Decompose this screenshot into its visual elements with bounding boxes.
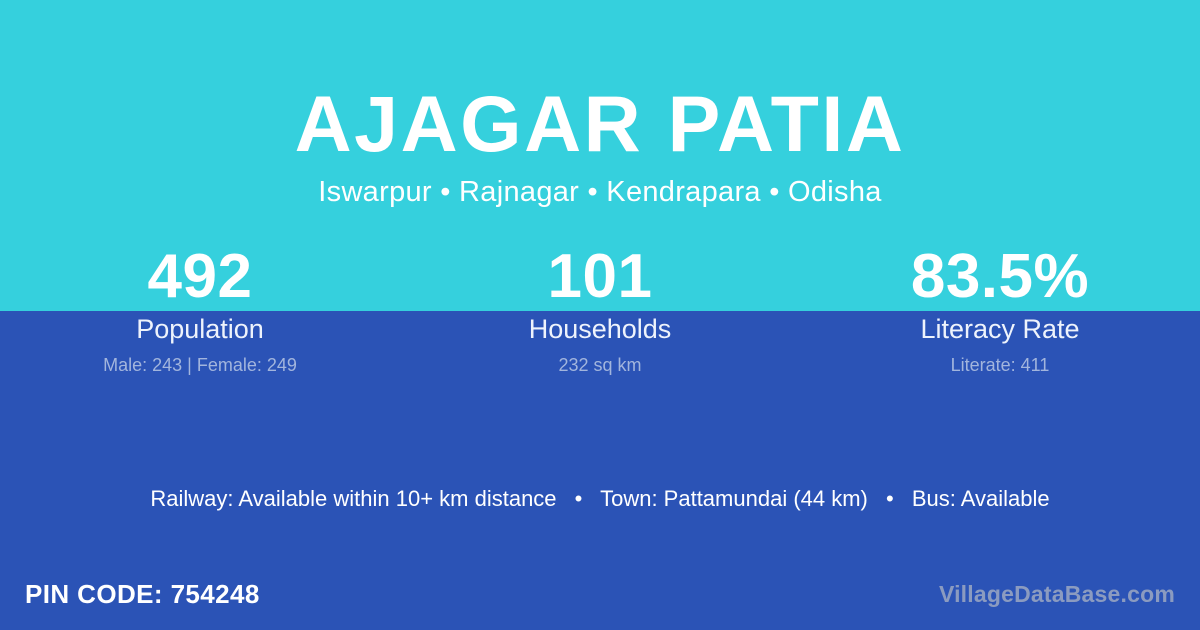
- bullet-separator-icon: •: [563, 485, 595, 513]
- breadcrumb: Iswarpur • Rajnagar • Kendrapara • Odish…: [0, 163, 1200, 209]
- amenity-town: Town: Pattamundai (44 km): [600, 486, 868, 511]
- site-branding: VillageDataBase.com: [939, 581, 1175, 608]
- stat-sublabel: Male: 243 | Female: 249: [0, 354, 400, 376]
- stat-households: 101 Households 232 sq km: [400, 243, 800, 376]
- pin-code-label: PIN CODE: 754248: [25, 579, 260, 610]
- amenities-line: Railway: Available within 10+ km distanc…: [0, 485, 1200, 513]
- stat-population: 492 Population Male: 243 | Female: 249: [0, 243, 400, 376]
- stats-row: 492 Population Male: 243 | Female: 249 1…: [0, 243, 1200, 376]
- footer-bar: PIN CODE: 754248 VillageDataBase.com: [0, 558, 1200, 630]
- stat-value: 101: [400, 243, 800, 311]
- stat-label: Literacy Rate: [800, 313, 1200, 345]
- stat-label: Households: [400, 313, 800, 345]
- stat-literacy-rate: 83.5% Literacy Rate Literate: 411: [800, 243, 1200, 376]
- page-title: AJAGAR PATIA: [0, 0, 1200, 163]
- village-info-card: AJAGAR PATIA Iswarpur • Rajnagar • Kendr…: [0, 0, 1200, 630]
- stat-value: 83.5%: [800, 243, 1200, 311]
- stat-sublabel: Literate: 411: [800, 354, 1200, 376]
- stat-value: 492: [0, 243, 400, 311]
- card-header: AJAGAR PATIA Iswarpur • Rajnagar • Kendr…: [0, 0, 1200, 209]
- stat-label: Population: [0, 313, 400, 345]
- amenity-railway: Railway: Available within 10+ km distanc…: [150, 486, 556, 511]
- amenity-bus: Bus: Available: [912, 486, 1050, 511]
- bullet-separator-icon: •: [874, 485, 906, 513]
- stat-sublabel: 232 sq km: [400, 354, 800, 376]
